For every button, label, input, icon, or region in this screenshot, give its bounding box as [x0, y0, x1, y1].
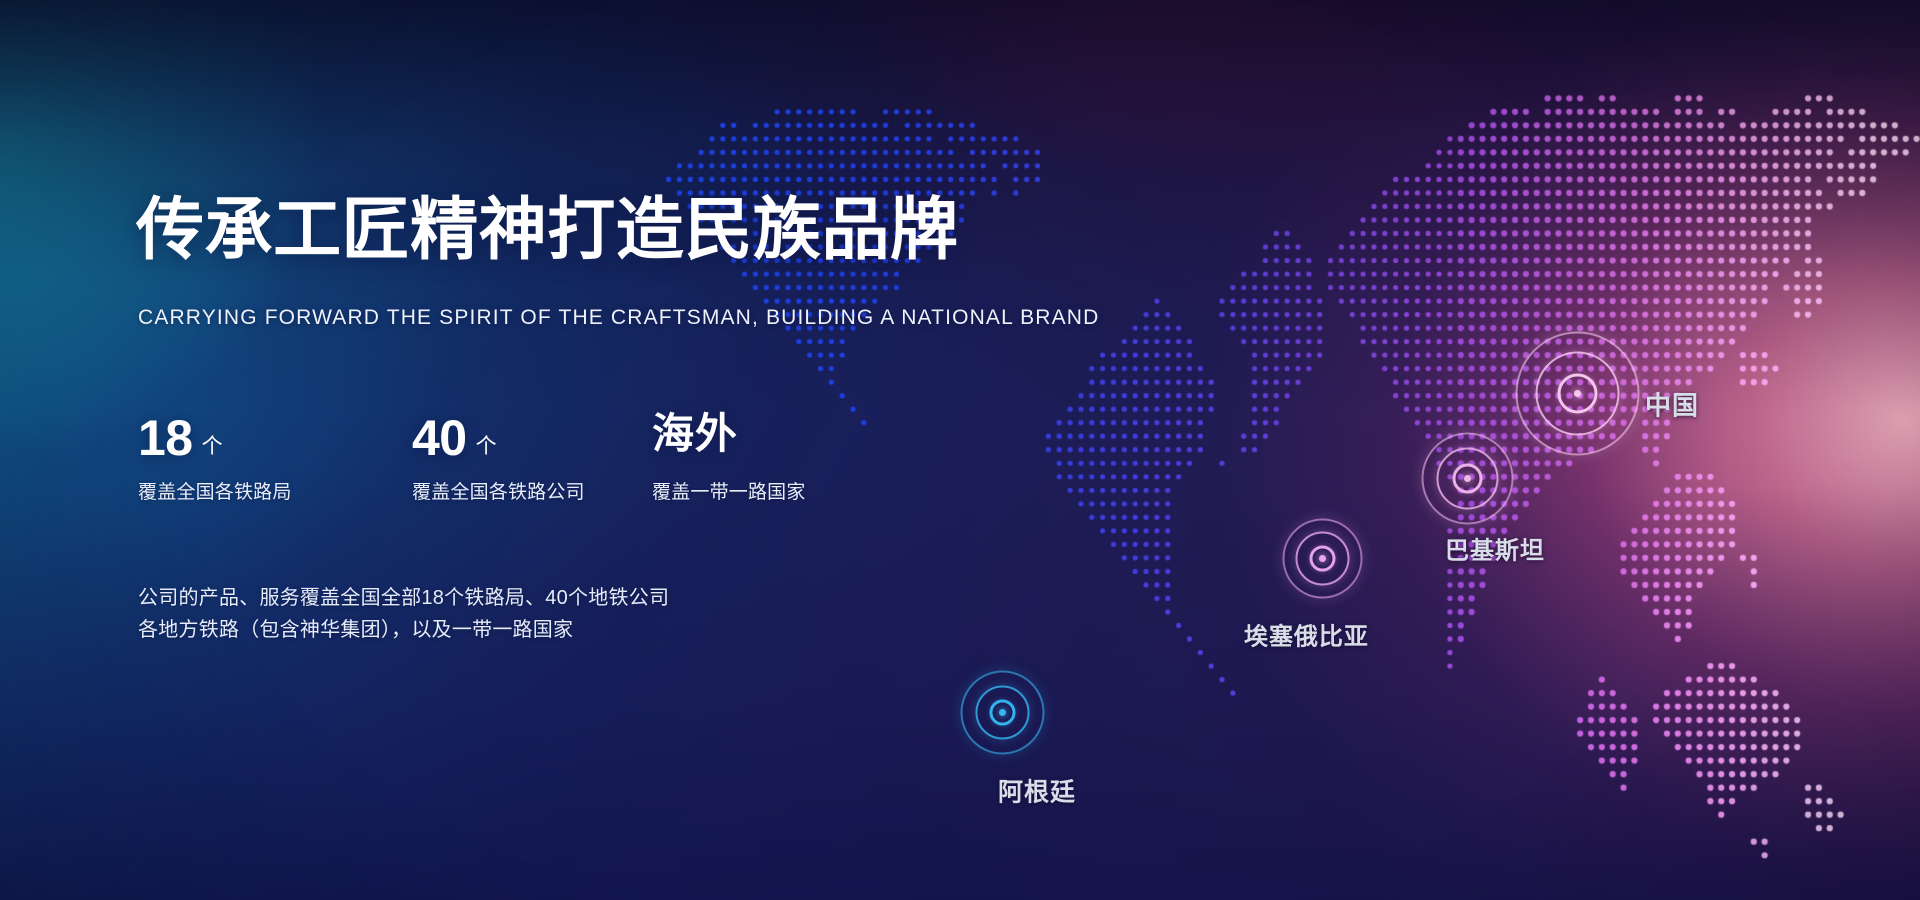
- description-block: 公司的产品、服务覆盖全国全部18个铁路局、40个地铁公司 各地方铁路（包含神华集…: [138, 582, 669, 647]
- page-title: 传承工匠精神打造民族品牌: [136, 196, 959, 264]
- description-line-1: 公司的产品、服务覆盖全国全部18个铁路局、40个地铁公司: [138, 582, 669, 614]
- stat-item-3: 海外覆盖一带一路国家: [652, 413, 892, 504]
- description-line-2: 各地方铁路（包含神华集团），以及一带一路国家: [138, 614, 669, 646]
- stat-value-row: 海外: [652, 413, 892, 471]
- stat-value: 海外: [652, 413, 738, 455]
- stat-item-2: 40个覆盖全国各铁路公司: [412, 413, 652, 504]
- stat-unit: 个: [476, 430, 497, 460]
- hero-content: 传承工匠精神打造民族品牌 CARRYING FORWARD THE SPIRIT…: [136, 0, 1136, 900]
- stat-description: 覆盖全国各铁路公司: [412, 477, 652, 504]
- stat-value: 40: [412, 413, 467, 463]
- stats-row: 18个覆盖全国各铁路局40个覆盖全国各铁路公司海外覆盖一带一路国家: [138, 413, 892, 504]
- stat-value-row: 18个: [138, 413, 412, 471]
- hero-banner: 中国巴基斯坦埃塞俄比亚阿根廷 传承工匠精神打造民族品牌 CARRYING FOR…: [0, 0, 1920, 900]
- stat-value: 18: [138, 413, 193, 463]
- page-subtitle: CARRYING FORWARD THE SPIRIT OF THE CRAFT…: [138, 307, 1099, 328]
- stat-value-row: 40个: [412, 413, 652, 471]
- stat-description: 覆盖全国各铁路局: [138, 477, 412, 504]
- stat-unit: 个: [202, 430, 223, 460]
- stat-item-1: 18个覆盖全国各铁路局: [138, 413, 412, 504]
- stat-description: 覆盖一带一路国家: [652, 477, 892, 504]
